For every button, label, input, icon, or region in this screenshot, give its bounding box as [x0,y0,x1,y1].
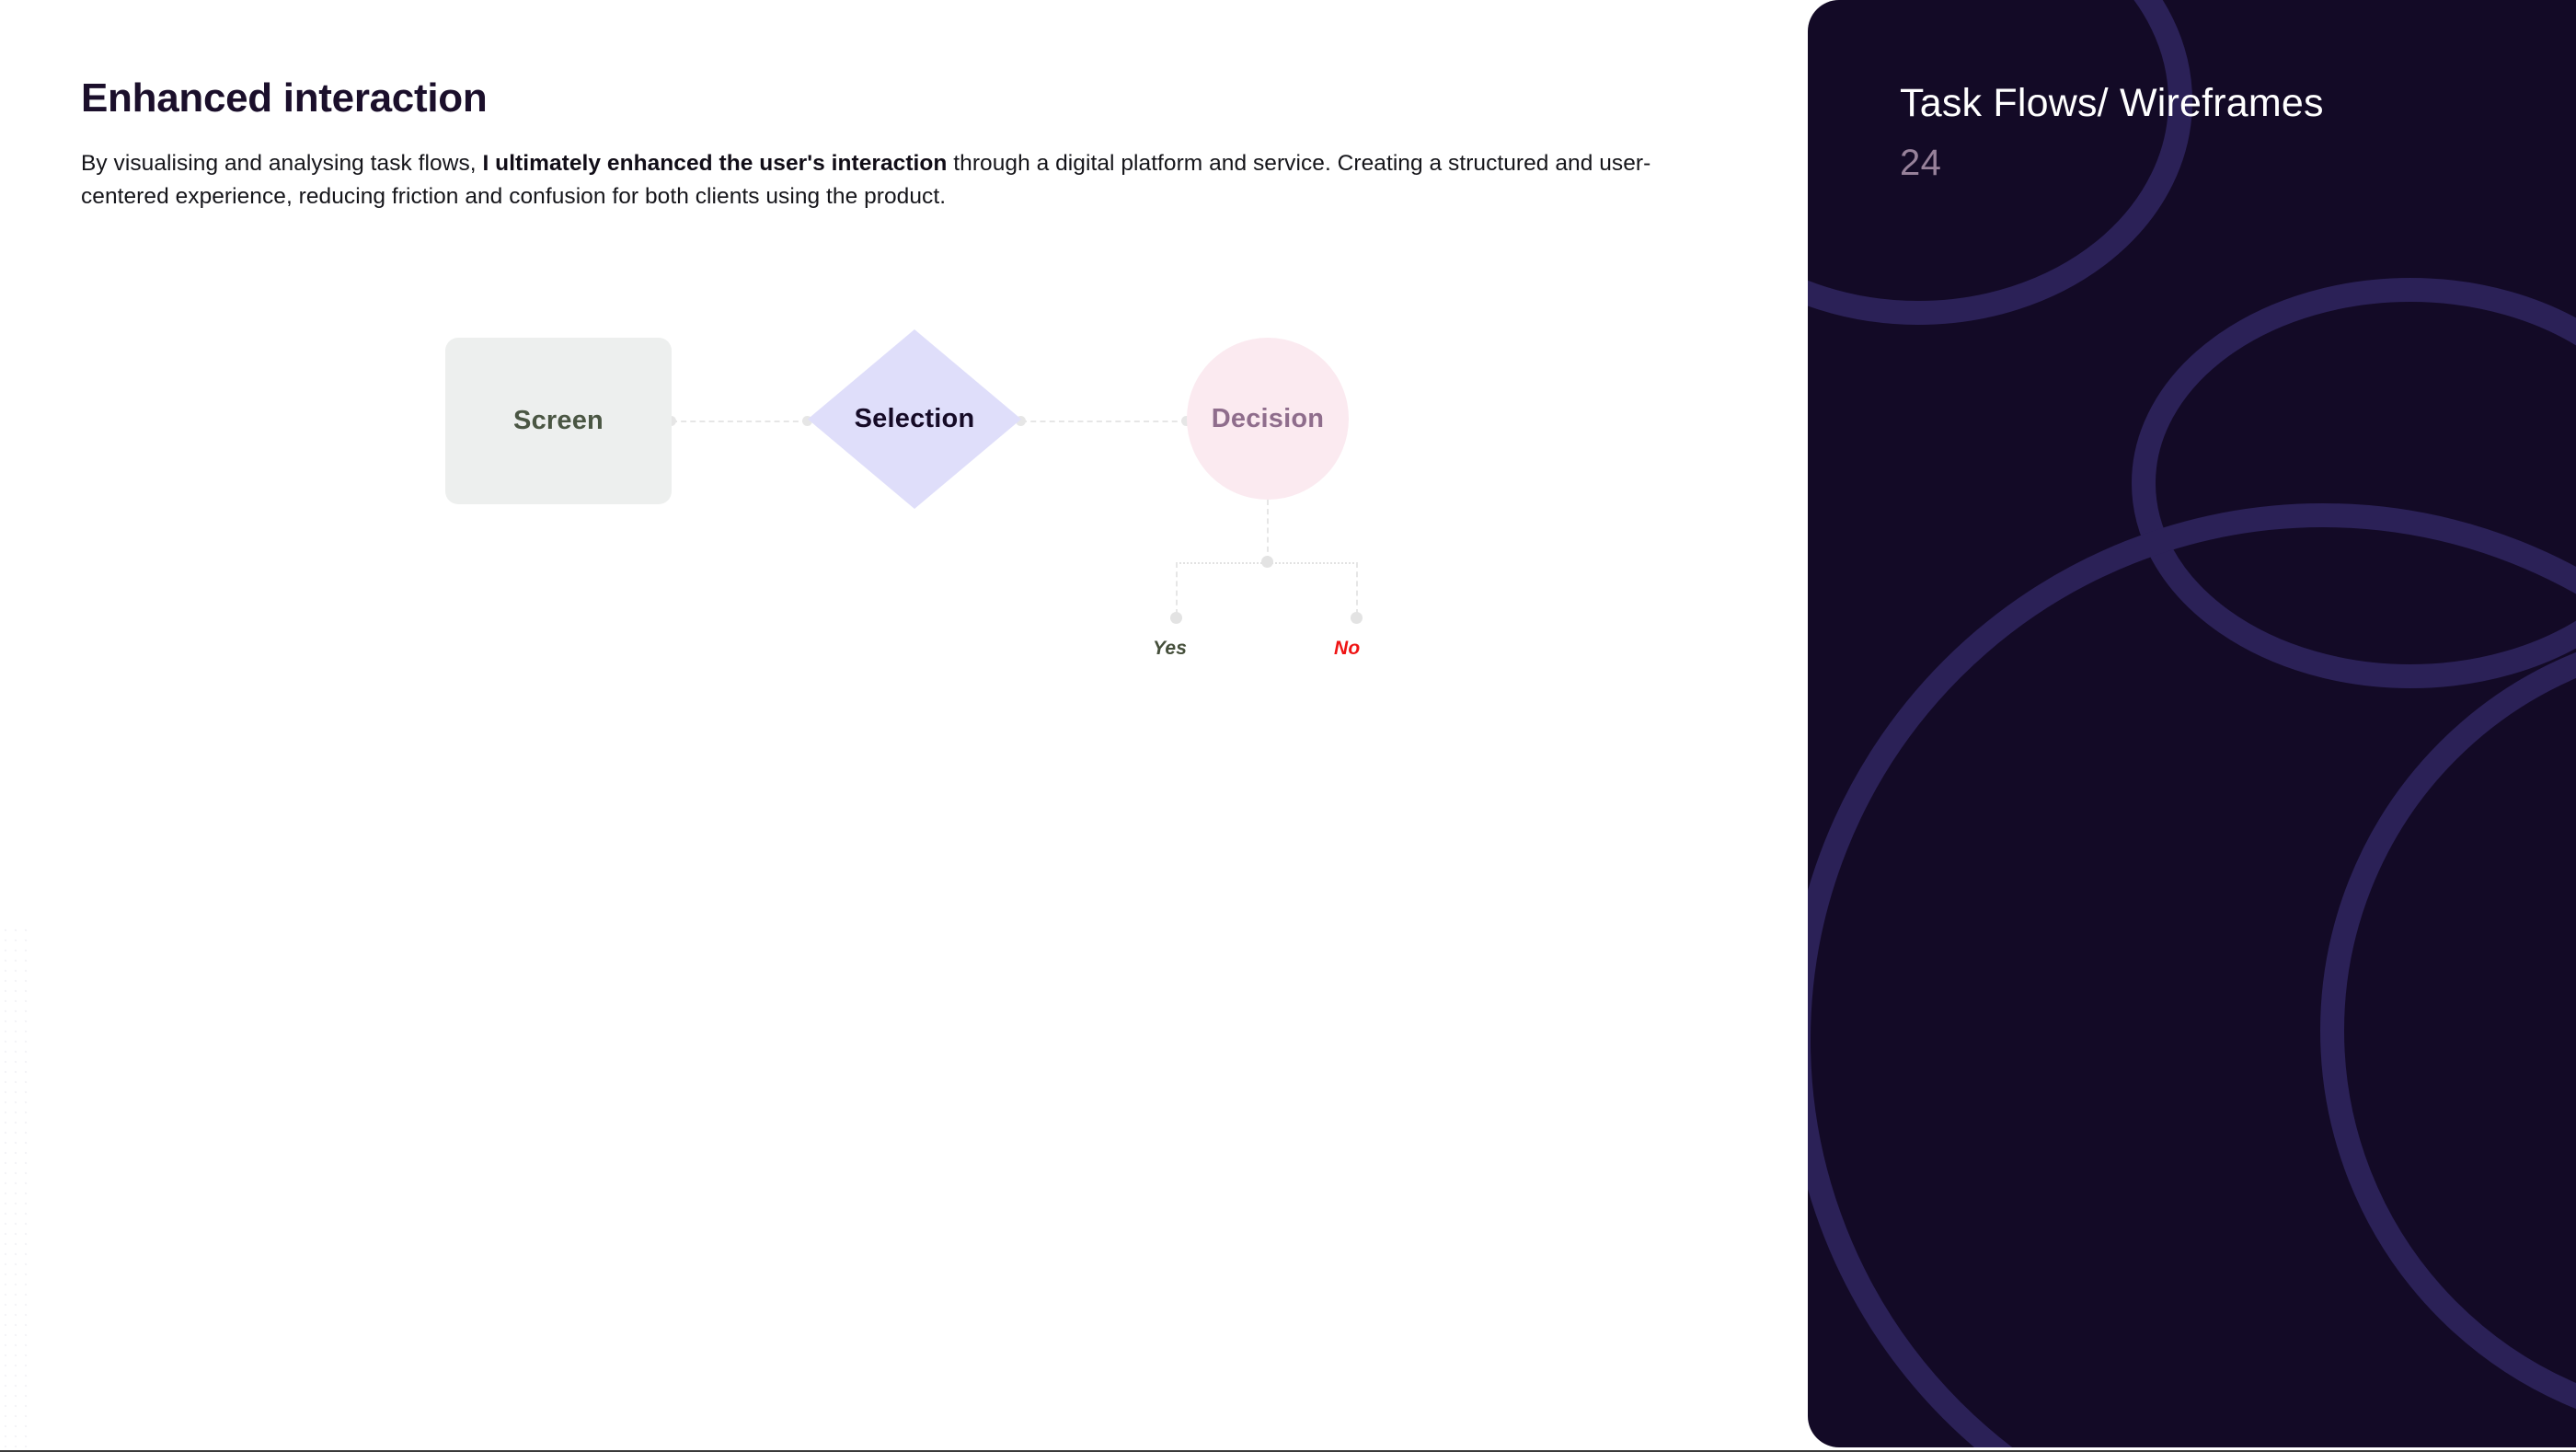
page-title: Enhanced interaction [81,75,487,121]
content-area: Enhanced interaction By visualising and … [0,0,1808,1452]
branch-label-yes: Yes [1153,638,1187,660]
slide-page: Enhanced interaction By visualising and … [0,0,2576,1452]
connector-dot-branch-junction[interactable] [1261,556,1273,568]
panel-decorative-circles [1808,0,2576,1447]
connector-dot-yes[interactable] [1170,612,1182,624]
flow-node-screen[interactable]: Screen [445,338,672,504]
panel-title: Task Flows/ Wireframes [1900,81,2324,126]
connector-branch-yes [1176,562,1178,615]
section-panel: Task Flows/ Wireframes 24 [1808,0,2576,1447]
branch-label-no: No [1334,638,1360,660]
body-lead: By visualising and analysing task flows, [81,151,482,176]
connector-screen-to-selection [672,421,808,422]
body-emphasis: I ultimately enhanced the user's interac… [482,151,947,176]
panel-slide-number: 24 [1900,143,1941,184]
flow-node-selection-label: Selection [855,404,975,434]
flow-node-selection[interactable]: Selection [808,329,1021,509]
flow-node-decision-label: Decision [1212,404,1324,434]
flow-node-decision[interactable]: Decision [1187,338,1349,500]
body-paragraph: By visualising and analysing task flows,… [81,147,1719,214]
left-edge-artifact [0,925,31,1452]
flow-node-screen-label: Screen [513,406,604,436]
task-flow-diagram: Screen Selection Decision Yes N [0,0,1808,1452]
connector-branch-no [1356,562,1358,615]
connector-dot-no[interactable] [1351,612,1363,624]
connector-decision-down [1267,500,1269,561]
connector-selection-to-decision [1021,421,1187,422]
